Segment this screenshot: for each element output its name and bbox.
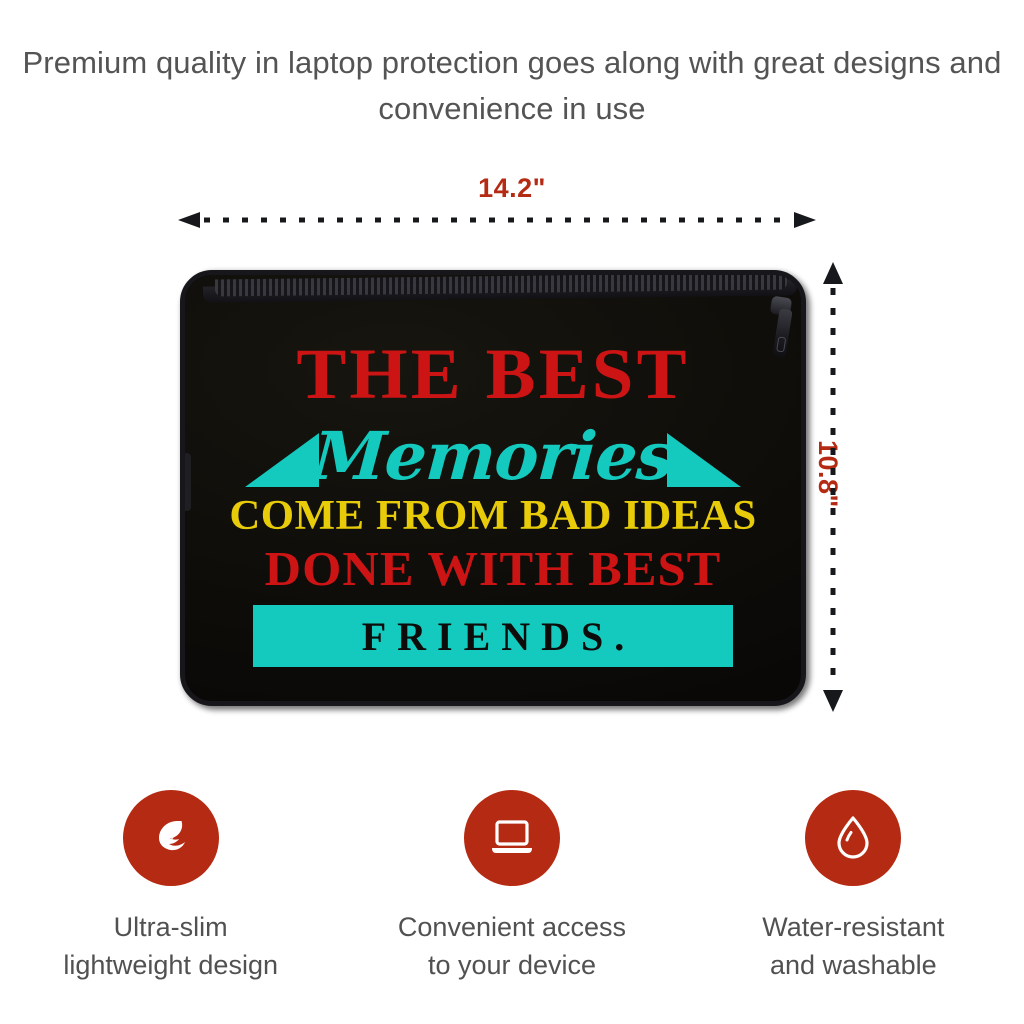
feature-item-water-resistant: Water-resistant and washable [683,790,1024,984]
page-headline: Premium quality in laptop protection goe… [0,40,1024,132]
feature-icon-badge [464,790,560,886]
artwork-line-friends: FRIENDS. [351,613,636,660]
feature-icon-badge [123,790,219,886]
artwork-line-memories: Memories [311,421,676,491]
triangle-wedge-left-icon [245,433,319,487]
triangle-wedge-right-icon [667,433,741,487]
feature-list: Ultra-slim lightweight design Convenient… [0,790,1024,984]
artwork-line-come-from-bad-ideas: COME FROM BAD IDEAS [180,493,806,539]
feature-label-line-2: to your device [341,946,682,984]
feature-label: Convenient access to your device [341,908,682,984]
feature-label-line-2: lightweight design [0,946,341,984]
feature-item-convenient-access: Convenient access to your device [341,790,682,984]
feather-icon [147,814,195,862]
artwork-friends-banner: FRIENDS. [253,605,733,667]
artwork-memories-row: Memories [185,413,801,491]
feature-label: Ultra-slim lightweight design [0,908,341,984]
width-dimension-label: 14.2" [0,173,1024,204]
feature-label-line-1: Water-resistant [683,908,1024,946]
laptop-icon [487,816,537,860]
water-drop-icon [831,813,875,863]
laptop-sleeve-product: THE BEST Memories COME FROM BAD IDEAS DO… [176,262,816,714]
feature-icon-badge [805,790,901,886]
feature-item-ultra-slim: Ultra-slim lightweight design [0,790,341,984]
width-dimension-arrow [178,212,816,228]
artwork-line-done-with-best: DONE WITH BEST [180,542,806,595]
feature-label: Water-resistant and washable [683,908,1024,984]
feature-label-line-2: and washable [683,946,1024,984]
artwork-line-the-best: THE BEST [180,337,806,411]
height-dimension-arrow [820,262,846,712]
feature-label-line-1: Ultra-slim [0,908,341,946]
sleeve-body: THE BEST Memories COME FROM BAD IDEAS DO… [180,270,806,706]
feature-label-line-1: Convenient access [341,908,682,946]
sleeve-printed-artwork: THE BEST Memories COME FROM BAD IDEAS DO… [185,337,801,667]
